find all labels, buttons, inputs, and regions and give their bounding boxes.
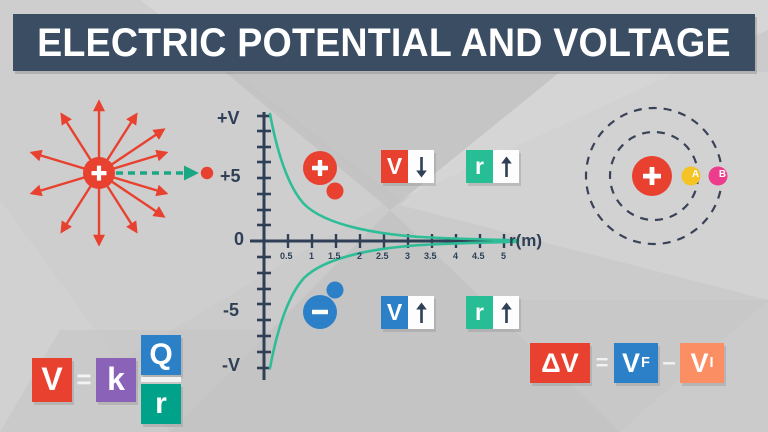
point-b-label: B (713, 169, 732, 180)
badge-letter-v: V (381, 150, 408, 183)
y-axis-label-bottom: -V (222, 355, 240, 376)
x-tick-8: 4.5 (472, 251, 485, 261)
badge-v-increases: V (381, 296, 434, 329)
potential-difference-formula: ΔV = VF – VI (530, 343, 724, 383)
v-initial-subscript: I (709, 356, 713, 371)
arrow-up-icon (500, 156, 513, 178)
formula-tile-v-initial: VI (680, 343, 724, 383)
v-initial-base: V (690, 348, 708, 379)
infographic-canvas: ELECTRIC POTENTIAL AND VOLTAGE (0, 0, 768, 432)
potential-vs-distance-chart (200, 100, 540, 390)
arrow-down-icon (415, 156, 428, 178)
x-tick-4: 2.5 (376, 251, 389, 261)
fraction-bar (141, 377, 181, 382)
v-final-subscript: F (641, 356, 650, 371)
formula-tile-k: k (96, 358, 136, 402)
badge-arrow-up-2 (408, 296, 434, 329)
y-axis-label-top: +V (217, 108, 240, 129)
equipotential-diagram (572, 98, 762, 260)
formula-equals-2: = (590, 343, 614, 383)
chart-marker-negative-dot (327, 282, 344, 299)
radial-field-diagram (28, 96, 228, 246)
badge-arrow-up-3 (493, 296, 519, 329)
badge-arrow-down (408, 150, 434, 183)
x-tick-5: 3 (405, 251, 410, 261)
badge-v-decreases: V (381, 150, 434, 183)
y-axis-label-minus5: -5 (223, 300, 239, 321)
formula-minus: – (658, 343, 680, 383)
x-tick-7: 4 (453, 251, 458, 261)
page-title-banner: ELECTRIC POTENTIAL AND VOLTAGE (13, 14, 755, 71)
y-axis-label-plus5: +5 (220, 166, 241, 187)
badge-r-increases: r (466, 150, 519, 183)
x-tick-1: 1 (309, 251, 314, 261)
badge-r-increases-2: r (466, 296, 519, 329)
badge-letter-r-2: r (466, 296, 493, 329)
potential-formula: V = k Q r (32, 335, 181, 424)
formula-fraction: Q r (141, 335, 181, 424)
chart-marker-positive-dot (327, 183, 344, 200)
x-tick-2: 1.5 (328, 251, 341, 261)
v-final-base: V (622, 348, 640, 379)
x-tick-6: 3.5 (424, 251, 437, 261)
x-tick-3: 2 (357, 251, 362, 261)
formula-tile-delta-v: ΔV (530, 343, 590, 383)
arrow-up-icon (500, 302, 513, 324)
formula-tile-r: r (141, 384, 181, 424)
badge-arrow-up (493, 150, 519, 183)
y-axis-label-zero: 0 (234, 229, 244, 250)
point-a-label: A (686, 169, 705, 180)
formula-tile-q: Q (141, 335, 181, 375)
x-tick-9: 5 (501, 251, 506, 261)
formula-tile-v: V (32, 358, 72, 402)
arrow-up-icon (415, 302, 428, 324)
x-tick-0: 0.5 (280, 251, 293, 261)
badge-letter-v-2: V (381, 296, 408, 329)
x-axis-label: r(m) (509, 231, 542, 251)
formula-tile-v-final: VF (614, 343, 658, 383)
formula-equals: = (72, 358, 96, 402)
page-title: ELECTRIC POTENTIAL AND VOLTAGE (37, 23, 731, 63)
badge-letter-r: r (466, 150, 493, 183)
